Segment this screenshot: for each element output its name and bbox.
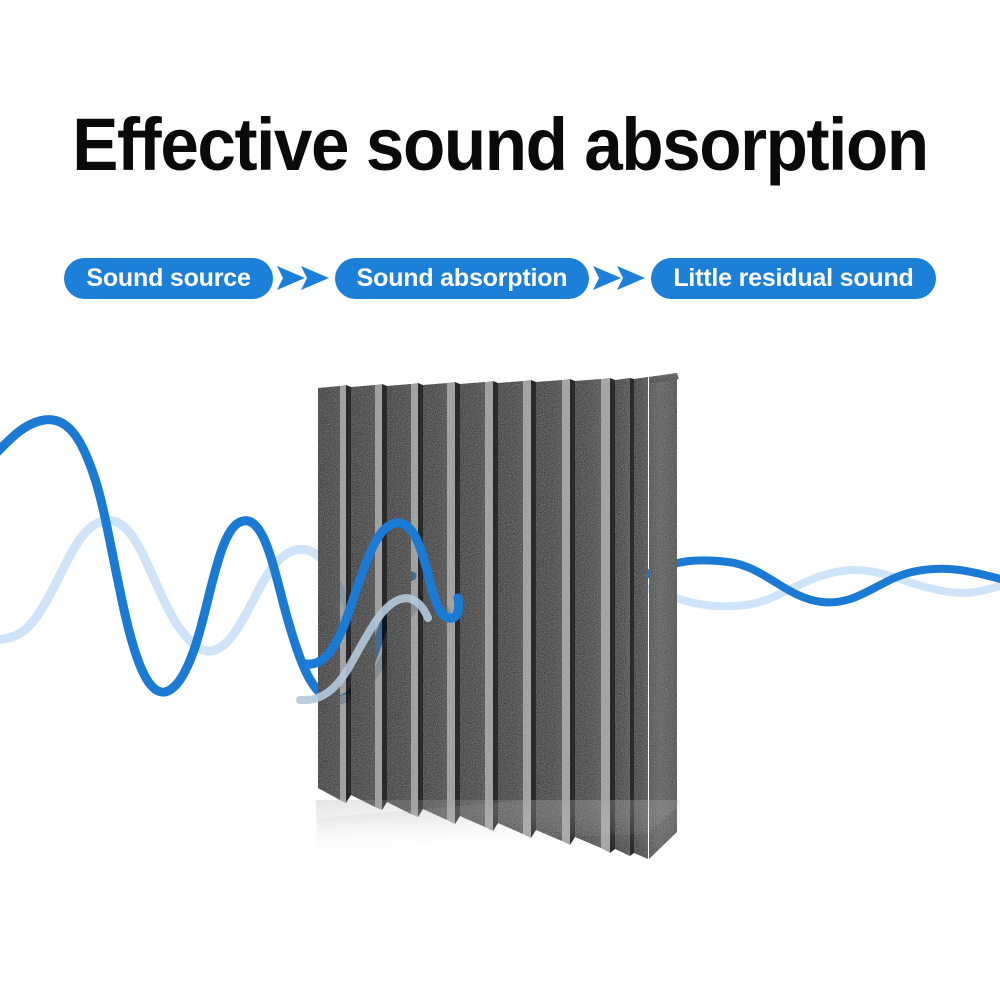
badge-little-residual-sound[interactable]: Little residual sound bbox=[651, 258, 935, 299]
double-chevron-right-icon bbox=[273, 261, 335, 295]
foam-wedge bbox=[575, 379, 601, 848]
badge-sound-source[interactable]: Sound source bbox=[64, 258, 272, 299]
foam-wedge bbox=[387, 384, 411, 814]
foam-side-face bbox=[649, 373, 677, 859]
double-chevron-right-icon bbox=[589, 261, 651, 295]
foam-wedge bbox=[318, 386, 340, 800]
badge-label: Sound absorption bbox=[357, 264, 568, 293]
badge-label: Little residual sound bbox=[673, 264, 913, 293]
product-feature-banner: Effective sound absorption Sound source … bbox=[0, 0, 1000, 1000]
page-title: Effective sound absorption bbox=[33, 108, 968, 182]
acoustic-foam-panel bbox=[300, 370, 680, 870]
foam-wedge bbox=[423, 383, 447, 820]
residual-wave-faint bbox=[640, 570, 1000, 606]
process-flow: Sound source Sound absorption Little res… bbox=[0, 255, 1000, 301]
foam-wedge bbox=[615, 378, 630, 856]
residual-wave-strong bbox=[640, 560, 1000, 602]
foam-wedge bbox=[351, 385, 375, 807]
foam-wedge bbox=[498, 381, 523, 834]
foam-wedge bbox=[536, 380, 562, 841]
badge-sound-absorption[interactable]: Sound absorption bbox=[335, 258, 590, 299]
foam-wedge bbox=[460, 382, 485, 827]
foam-wedge bbox=[634, 377, 648, 859]
badge-label: Sound source bbox=[86, 264, 250, 293]
